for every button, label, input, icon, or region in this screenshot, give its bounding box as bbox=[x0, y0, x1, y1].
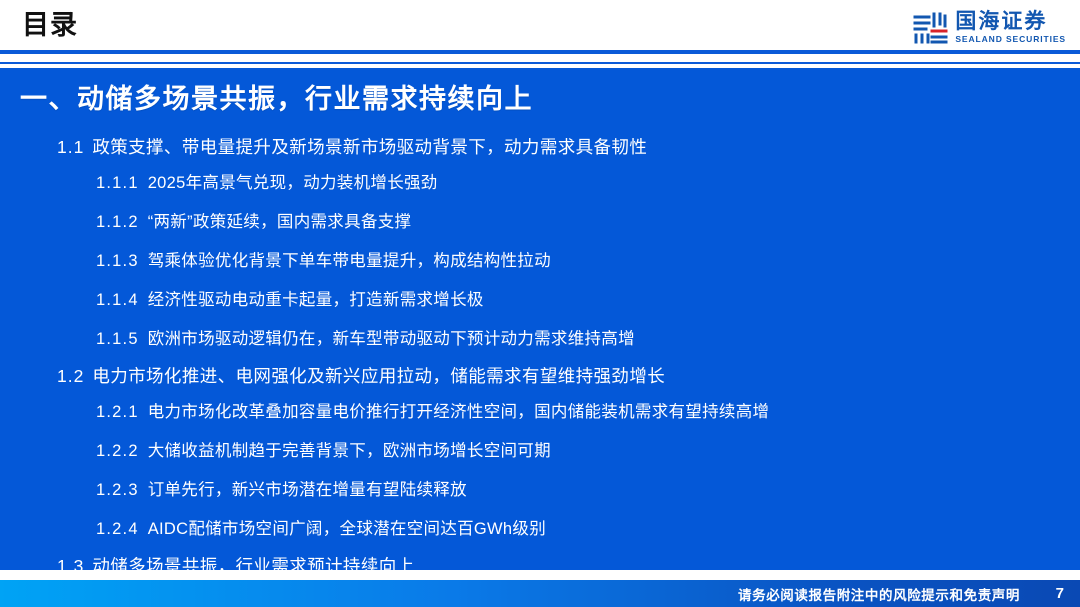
toc-panel: 一、动储多场景共振，行业需求持续向上 1.1政策支撑、带电量提升及新场景新市场驱… bbox=[0, 68, 1080, 570]
toc-item-1-2[interactable]: 1.2电力市场化推进、电网强化及新兴应用拉动，储能需求有望维持强劲增长 bbox=[0, 359, 1080, 393]
toc-item-label: 电力市场化改革叠加容量电价推行打开经济性空间，国内储能装机需求有望持续高增 bbox=[148, 393, 770, 432]
logo-name-cn: 国海证券 bbox=[955, 11, 1066, 33]
toc-item-number: 1.3 bbox=[57, 549, 84, 583]
toc-item-number: 1.2.1 bbox=[96, 393, 139, 432]
toc-item-1-2-1[interactable]: 1.2.1电力市场化改革叠加容量电价推行打开经济性空间，国内储能装机需求有望持续… bbox=[0, 393, 1080, 432]
toc-item-1-1-2[interactable]: 1.1.2“两新”政策延续，国内需求具备支撑 bbox=[0, 203, 1080, 242]
toc-item-label: 政策支撑、带电量提升及新场景新市场驱动背景下，动力需求具备韧性 bbox=[92, 130, 647, 164]
logo-wordmark: 国海证券 SEALAND SECURITIES bbox=[955, 11, 1066, 45]
header-rule-thin bbox=[0, 62, 1080, 64]
toc-item-label: AIDC配储市场空间广阔，全球潜在空间达百GWh级别 bbox=[148, 510, 546, 549]
toc-item-number: 1.2.4 bbox=[96, 510, 139, 549]
slide-header: 目录 bbox=[0, 0, 1080, 50]
slide-canvas: 目录 bbox=[0, 0, 1080, 607]
toc-item-1-1-3[interactable]: 1.1.3驾乘体验优化背景下单车带电量提升，构成结构性拉动 bbox=[0, 242, 1080, 281]
toc-item-number: 1.2.2 bbox=[96, 432, 139, 471]
header-rule-thick bbox=[0, 50, 1080, 54]
toc-item-1-2-3[interactable]: 1.2.3订单先行，新兴市场潜在增量有望陆续释放 bbox=[0, 471, 1080, 510]
toc-item-1-2-2[interactable]: 1.2.2大储收益机制趋于完善背景下，欧洲市场增长空间可期 bbox=[0, 432, 1080, 471]
page-title: 目录 bbox=[22, 6, 78, 44]
toc-item-number: 1.1.1 bbox=[96, 164, 139, 203]
toc-item-number: 1.1.5 bbox=[96, 320, 139, 359]
toc-item-label: 大储收益机制趋于完善背景下，欧洲市场增长空间可期 bbox=[148, 432, 551, 471]
toc-item-1-3[interactable]: 1.3动储多场景共振，行业需求预计持续向上 bbox=[0, 549, 1080, 583]
toc-item-label: 2025年高景气兑现，动力装机增长强劲 bbox=[148, 164, 438, 203]
toc-item-number: 1.1.2 bbox=[96, 203, 139, 242]
toc-item-1-2-4[interactable]: 1.2.4AIDC配储市场空间广阔，全球潜在空间达百GWh级别 bbox=[0, 510, 1080, 549]
toc-item-label: 动储多场景共振，行业需求预计持续向上 bbox=[92, 549, 414, 583]
toc-item-1-1-5[interactable]: 1.1.5欧洲市场驱动逻辑仍在，新车型带动驱动下预计动力需求维持高增 bbox=[0, 320, 1080, 359]
company-logo: 国海证券 SEALAND SECURITIES bbox=[912, 8, 1066, 48]
toc-item-label: 电力市场化推进、电网强化及新兴应用拉动，储能需求有望维持强劲增长 bbox=[92, 359, 665, 393]
toc-item-number: 1.2.3 bbox=[96, 471, 139, 510]
toc-item-number: 1.2 bbox=[57, 359, 84, 393]
toc-list: 1.1政策支撑、带电量提升及新场景新市场驱动背景下，动力需求具备韧性1.1.12… bbox=[0, 130, 1080, 583]
logo-name-en: SEALAND SECURITIES bbox=[955, 34, 1066, 45]
sealand-logo-mark-icon bbox=[912, 11, 948, 45]
toc-item-1-1-4[interactable]: 1.1.4经济性驱动电动重卡起量，打造新需求增长极 bbox=[0, 281, 1080, 320]
toc-item-number: 1.1.4 bbox=[96, 281, 139, 320]
toc-item-1-1[interactable]: 1.1政策支撑、带电量提升及新场景新市场驱动背景下，动力需求具备韧性 bbox=[0, 130, 1080, 164]
page-number: 7 bbox=[1056, 580, 1064, 607]
toc-item-1-1-1[interactable]: 1.1.12025年高景气兑现，动力装机增长强劲 bbox=[0, 164, 1080, 203]
toc-item-label: 订单先行，新兴市场潜在增量有望陆续释放 bbox=[148, 471, 467, 510]
slide-footer: 请务必阅读报告附注中的风险提示和免责声明 7 bbox=[0, 580, 1080, 607]
toc-item-number: 1.1.3 bbox=[96, 242, 139, 281]
toc-item-number: 1.1 bbox=[57, 130, 84, 164]
toc-item-label: “两新”政策延续，国内需求具备支撑 bbox=[148, 203, 412, 242]
section-heading: 一、动储多场景共振，行业需求持续向上 bbox=[20, 82, 533, 116]
disclaimer-note: 请务必阅读报告附注中的风险提示和免责声明 bbox=[738, 580, 1020, 607]
toc-item-label: 驾乘体验优化背景下单车带电量提升，构成结构性拉动 bbox=[148, 242, 551, 281]
toc-item-label: 欧洲市场驱动逻辑仍在，新车型带动驱动下预计动力需求维持高增 bbox=[148, 320, 635, 359]
toc-item-label: 经济性驱动电动重卡起量，打造新需求增长极 bbox=[148, 281, 484, 320]
